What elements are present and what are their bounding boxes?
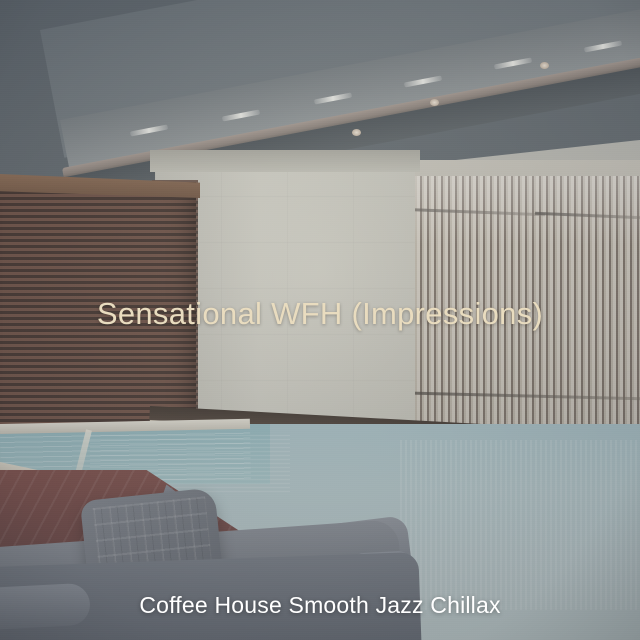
album-cover: Sensational WFH (Impressions) Coffee Hou… xyxy=(0,0,640,640)
light-fixture-icon xyxy=(352,129,361,136)
pool-reflection-right xyxy=(400,440,640,610)
album-title: Sensational WFH (Impressions) xyxy=(0,296,640,332)
screen-rail xyxy=(535,212,640,220)
center-wall-header-beam xyxy=(150,150,420,172)
light-fixture-icon xyxy=(430,99,439,106)
light-fixture-icon xyxy=(540,62,549,69)
artist-name: Coffee House Smooth Jazz Chillax xyxy=(0,592,640,619)
